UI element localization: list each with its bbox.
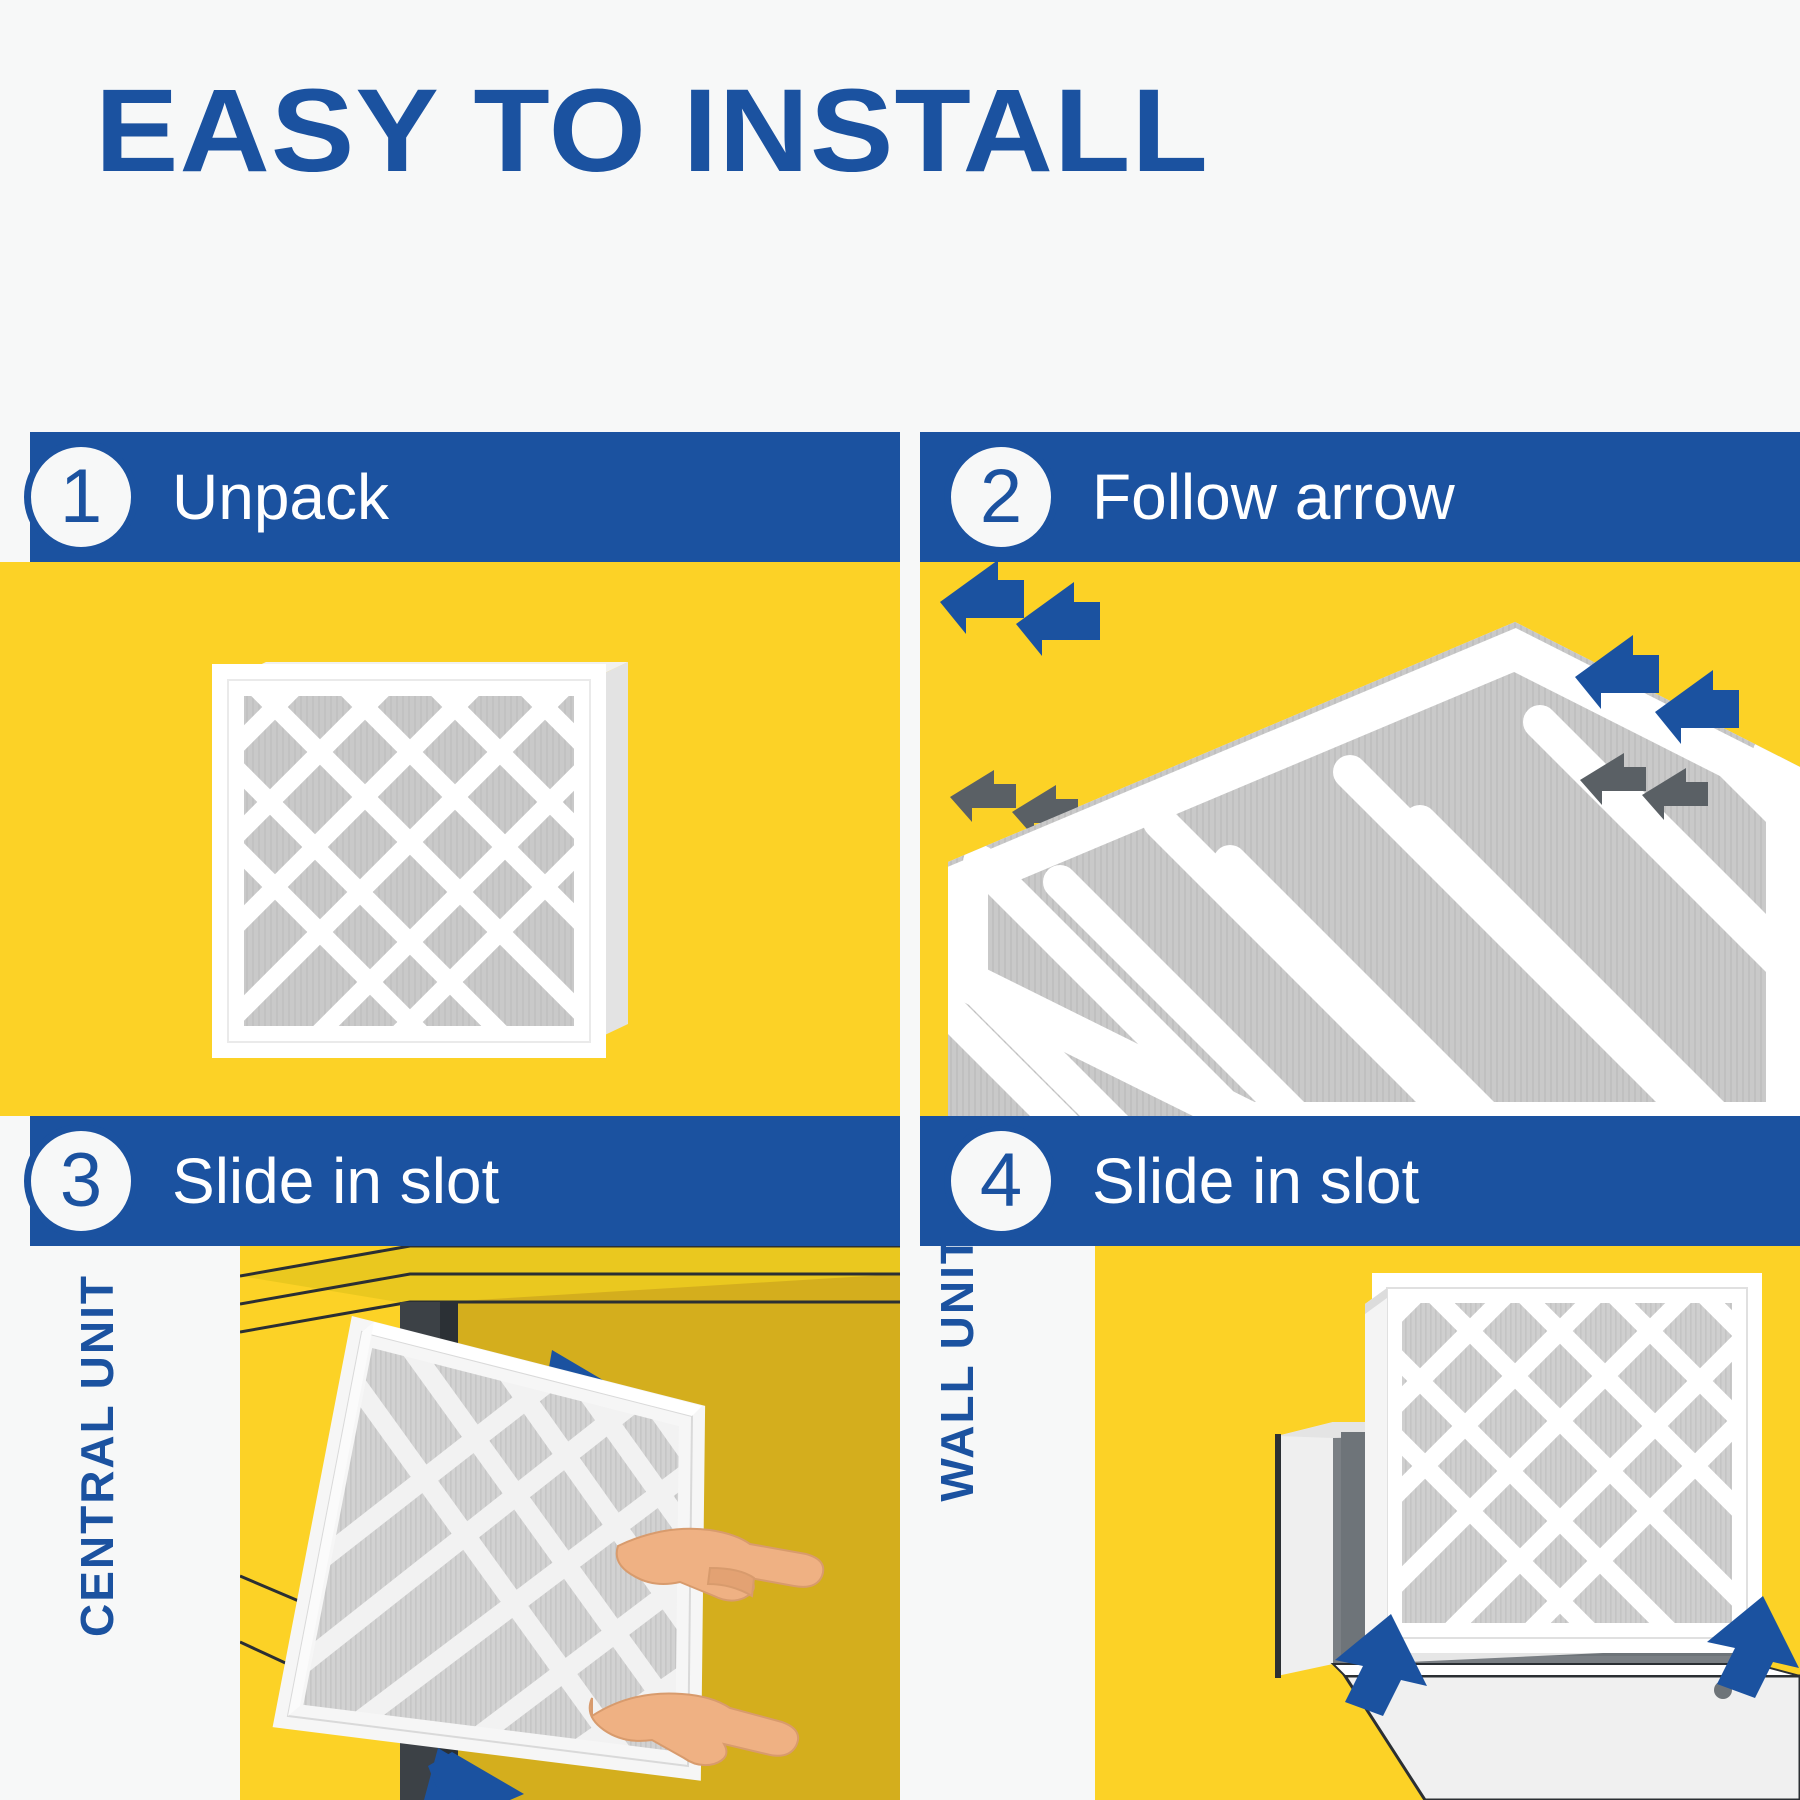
step-3-illustration-area — [240, 1246, 900, 1800]
airflow-arrow-blue-1 — [940, 562, 1100, 656]
wall-unit-icon — [1095, 1246, 1800, 1800]
step-1-header — [30, 432, 900, 562]
step-2-label: Follow arrow — [1092, 432, 1455, 562]
steps-grid: 1 Unpack — [0, 432, 1800, 1800]
step-panel-2: 2 Follow arrow — [920, 432, 1800, 1116]
step-panel-1: 1 Unpack — [0, 432, 900, 1116]
filter-flat-icon — [0, 562, 900, 1116]
step-1-label: Unpack — [172, 432, 389, 562]
step-2-number-badge: 2 — [944, 440, 1058, 554]
step-4-label: Slide in slot — [1092, 1116, 1419, 1246]
step-1-number-badge: 1 — [24, 440, 138, 554]
step-3-unit-label: CENTRAL UNIT — [70, 1274, 124, 1637]
step-4-number-badge: 4 — [944, 1124, 1058, 1238]
step-1-illustration-area — [0, 562, 900, 1116]
step-3-label: Slide in slot — [172, 1116, 499, 1246]
filter-angled-arrows-icon — [920, 562, 1800, 1116]
step-2-illustration-area — [920, 562, 1800, 1116]
step-3-number-badge: 3 — [24, 1124, 138, 1238]
central-unit-hands-icon — [240, 1246, 900, 1800]
step-panel-3: 3 Slide in slot CENTRAL UNIT — [0, 1116, 900, 1800]
page-title: EASY TO INSTALL — [95, 72, 1209, 190]
step-4-unit-label: WALL UNIT — [930, 1234, 984, 1502]
step-panel-4: 4 Slide in slot WALL UNIT — [920, 1116, 1800, 1800]
step-4-illustration-area — [1095, 1246, 1800, 1800]
